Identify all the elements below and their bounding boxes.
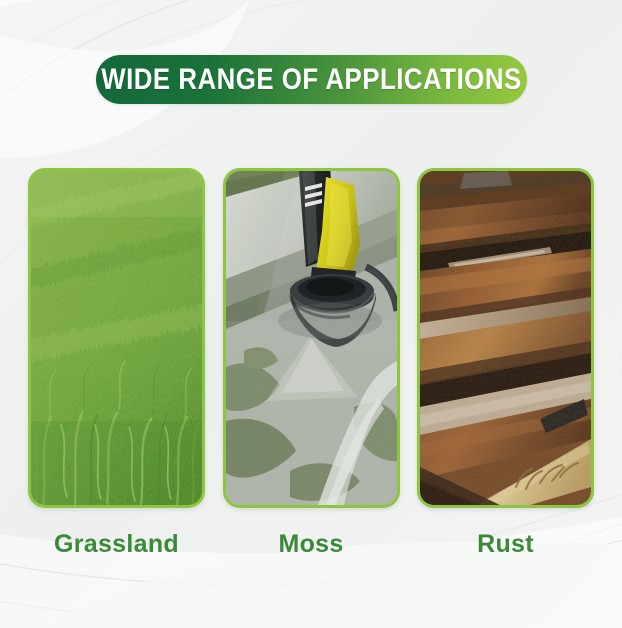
header-banner: WIDE RANGE OF APPLICATIONS bbox=[0, 55, 622, 104]
caption-cell-grassland: Grassland bbox=[28, 522, 205, 566]
caption-moss: Moss bbox=[278, 530, 343, 559]
rusty-steel-plates-photo bbox=[420, 171, 591, 505]
card-rust[interactable] bbox=[417, 168, 594, 508]
application-cards-row bbox=[28, 168, 594, 508]
card-moss[interactable] bbox=[223, 168, 400, 508]
page-title: WIDE RANGE OF APPLICATIONS bbox=[101, 63, 521, 97]
application-captions-row: Grassland Moss Rust bbox=[28, 522, 594, 566]
grass-lawn-photo bbox=[31, 171, 202, 505]
caption-cell-rust: Rust bbox=[417, 522, 594, 566]
caption-grassland: Grassland bbox=[54, 530, 179, 559]
title-pill: WIDE RANGE OF APPLICATIONS bbox=[96, 55, 527, 104]
card-grassland[interactable] bbox=[28, 168, 205, 508]
caption-cell-moss: Moss bbox=[223, 522, 400, 566]
pressure-washer-moss-photo bbox=[226, 171, 397, 505]
caption-rust: Rust bbox=[477, 530, 534, 559]
